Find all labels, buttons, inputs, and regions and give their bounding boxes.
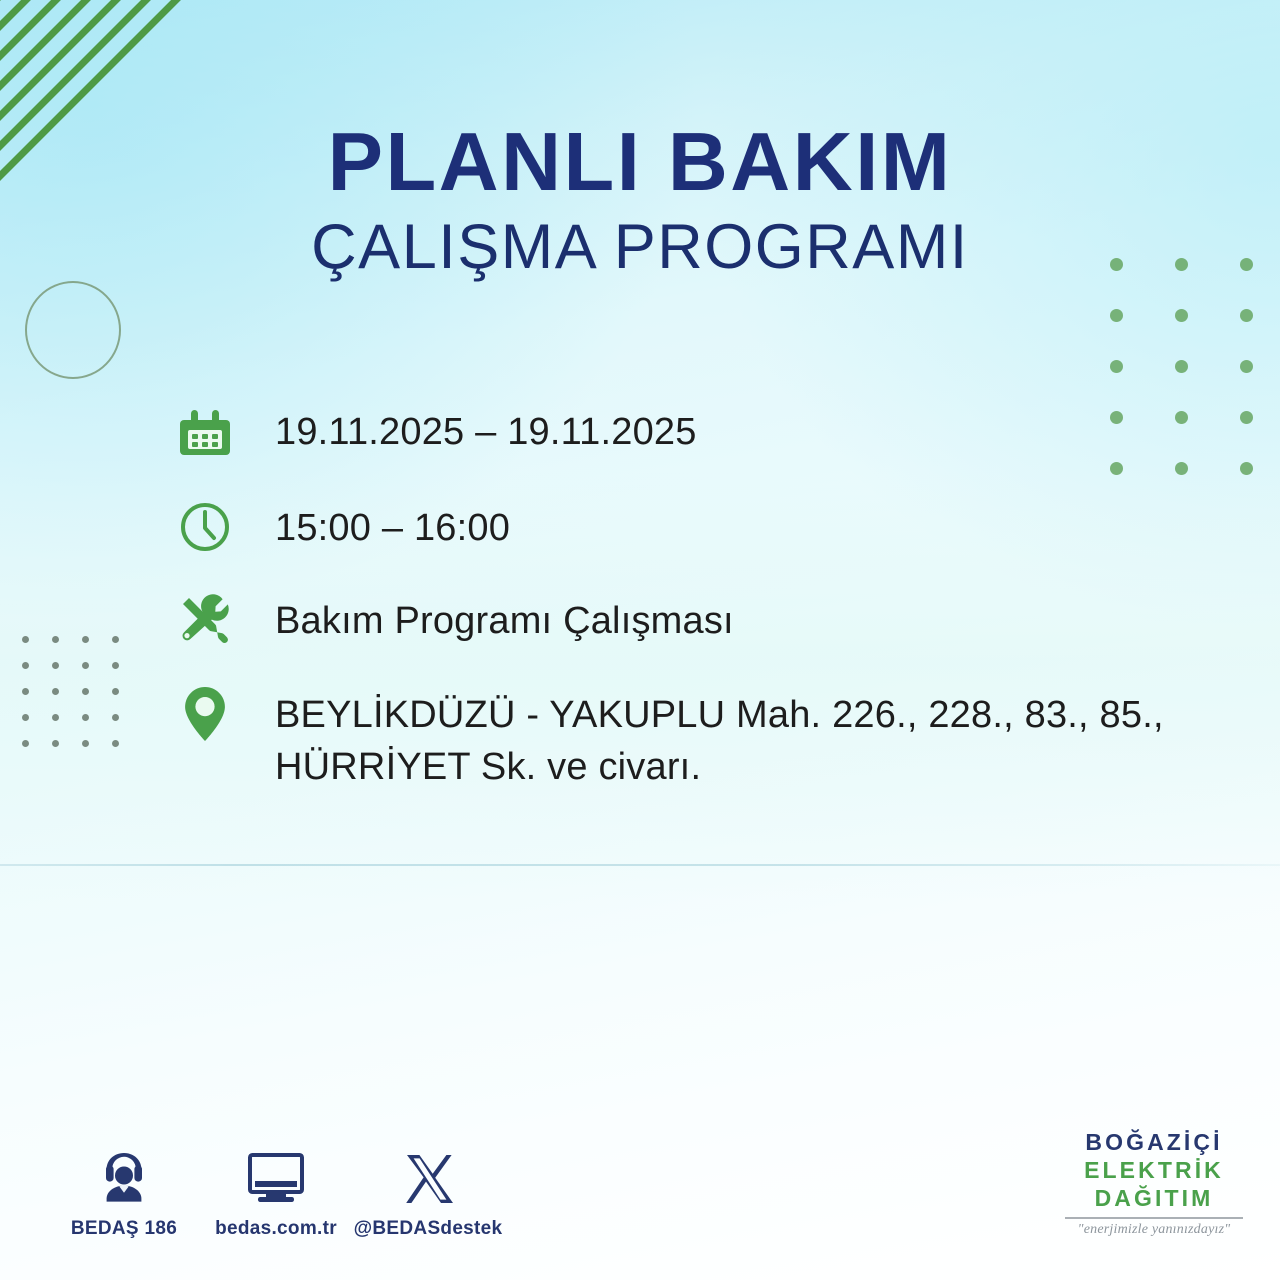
circle-outline-decoration [25, 281, 121, 379]
poster-canvas: PLANLI BAKIM ÇALIŞMA PROGRAMI [0, 0, 1280, 1280]
dot-grid-left-decoration [22, 636, 142, 766]
detail-time-range: 15:00 – 16:00 [234, 498, 510, 554]
tools-icon [176, 591, 234, 649]
detail-row-work-type: Bakım Programı Çalışması [176, 591, 1216, 649]
brand-tagline: "enerjimizle yanınızdayız" [1056, 1222, 1252, 1238]
contact-phone-label: BEDAŞ 186 [71, 1218, 177, 1240]
footer-contact-bar: BEDAŞ 186 bedas.com.tr @BEDASdestek [48, 1146, 504, 1240]
contact-social[interactable]: @BEDASdestek [352, 1146, 504, 1240]
detail-date-range: 19.11.2025 – 19.11.2025 [234, 403, 697, 458]
contact-website-label: bedas.com.tr [215, 1218, 337, 1240]
detail-location: BEYLİKDÜZÜ - YAKUPLU Mah. 226., 228., 83… [234, 685, 1216, 793]
brand-line-dagitim: DAĞITIM [1056, 1184, 1252, 1212]
contact-social-label: @BEDASdestek [354, 1218, 503, 1240]
contact-website[interactable]: bedas.com.tr [200, 1146, 352, 1240]
location-pin-icon [176, 685, 234, 743]
contact-phone[interactable]: BEDAŞ 186 [48, 1146, 200, 1240]
x-social-icon [401, 1146, 455, 1206]
outage-details-list: 19.11.2025 – 19.11.2025 15:00 – 16:00 [176, 403, 1216, 793]
brand-logo: BOĞAZİÇİ ELEKTRİK DAĞITIM "enerjimizle y… [1056, 1128, 1252, 1238]
monitor-website-icon [246, 1146, 306, 1206]
detail-work-type: Bakım Programı Çalışması [234, 591, 734, 647]
brand-divider [1065, 1217, 1243, 1219]
detail-row-time: 15:00 – 16:00 [176, 498, 1216, 556]
brand-line-elektrik: ELEKTRİK [1056, 1156, 1252, 1184]
headset-support-icon [95, 1146, 153, 1206]
page-subtitle: ÇALIŞMA PROGRAMI [0, 216, 1280, 279]
brand-line-bogazici: BOĞAZİÇİ [1056, 1128, 1252, 1156]
poster-header: PLANLI BAKIM ÇALIŞMA PROGRAMI [0, 122, 1280, 279]
detail-row-location: BEYLİKDÜZÜ - YAKUPLU Mah. 226., 228., 83… [176, 685, 1216, 793]
detail-row-date: 19.11.2025 – 19.11.2025 [176, 403, 1216, 461]
section-divider [0, 864, 1280, 866]
calendar-icon [176, 403, 234, 461]
page-title: PLANLI BAKIM [0, 122, 1280, 202]
clock-icon [176, 498, 234, 556]
